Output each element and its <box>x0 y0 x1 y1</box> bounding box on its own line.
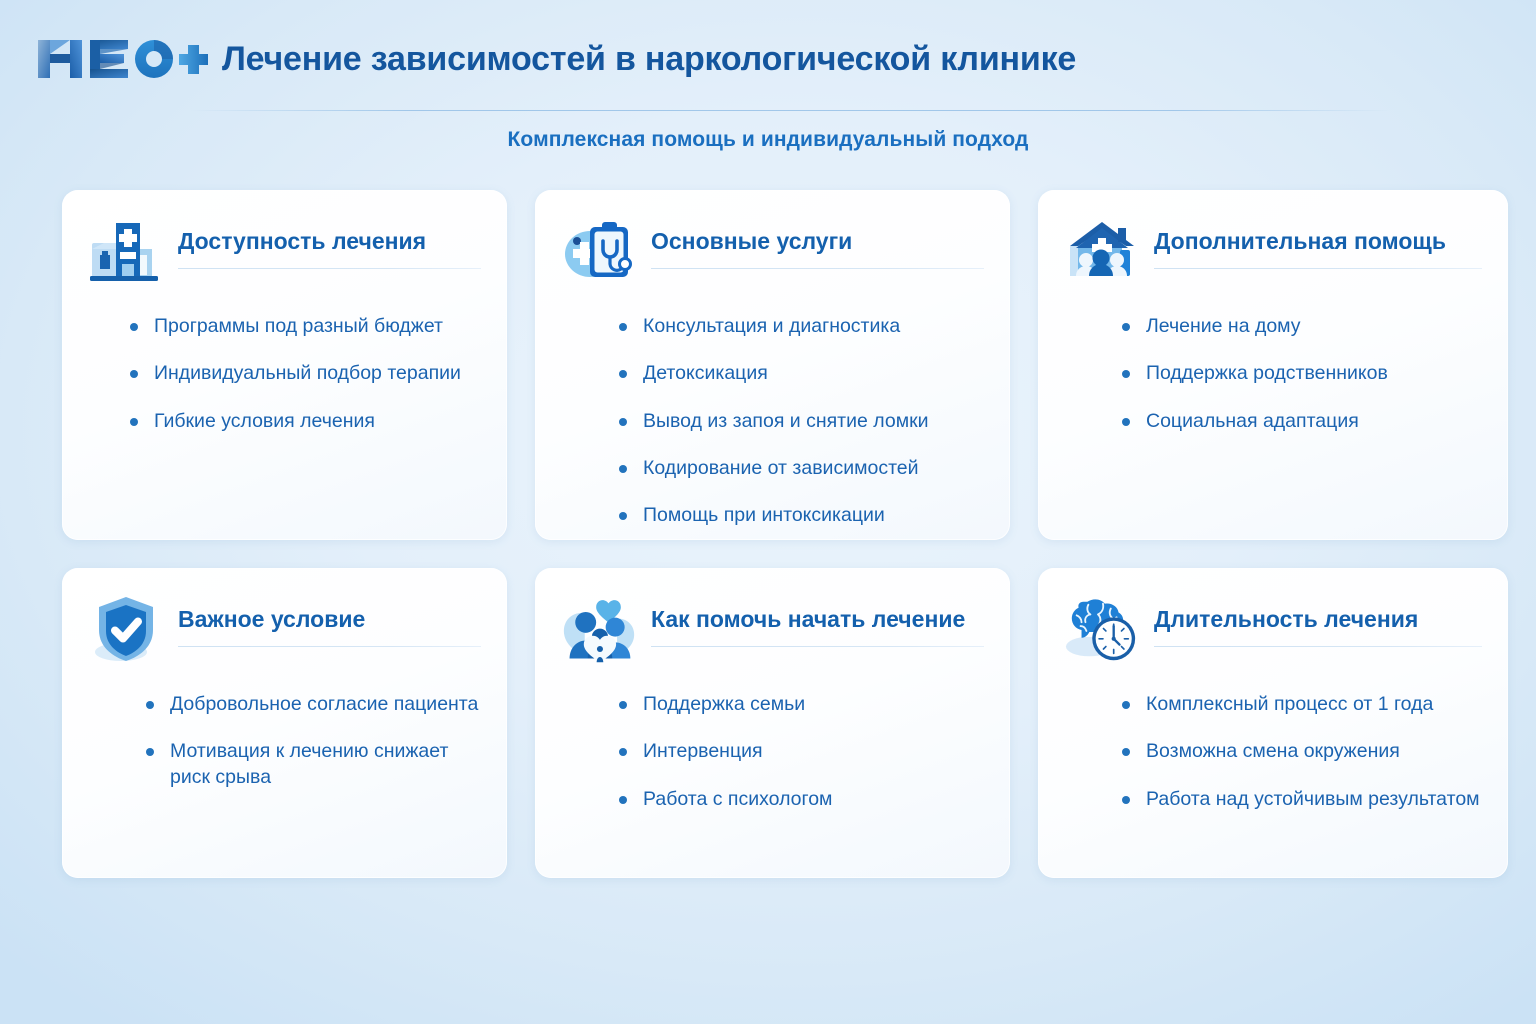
list-item: Социальная адаптация <box>1122 409 1482 434</box>
list-item: Поддержка семьи <box>619 692 984 717</box>
card-header: Основные услуги <box>561 216 984 288</box>
list-item: Лечение на дому <box>1122 314 1482 339</box>
card-title: Основные услуги <box>651 228 984 254</box>
home-care-people-icon <box>1064 218 1140 286</box>
card-header: Важное условие <box>88 594 481 666</box>
list-item: Мотивация к лечению снижает риск срыва <box>146 739 481 790</box>
list-item: Комплексный процесс от 1 года <box>1122 692 1482 717</box>
neo-plus-logo-icon <box>36 34 208 84</box>
list-item: Помощь при интоксикации <box>619 503 984 528</box>
card-title: Доступность лечения <box>178 228 481 254</box>
clipboard-stethoscope-icon <box>561 217 637 287</box>
card-title-divider <box>178 646 481 647</box>
card-bullet-list: Лечение на дому Поддержка родственников … <box>1064 314 1482 434</box>
cards-grid: Доступность лечения Программы под разный… <box>62 190 1474 878</box>
card-title: Как помочь начать лечение <box>651 606 984 632</box>
list-item: Работа над устойчивым результатом <box>1122 787 1482 812</box>
card-additional-help: Дополнительная помощь Лечение на дому По… <box>1038 190 1508 540</box>
brand-row: Лечение зависимостей в наркологической к… <box>36 34 1076 84</box>
card-header: Длительность лечения <box>1064 594 1482 666</box>
header-divider <box>190 110 1390 111</box>
card-heading-block: Как помочь начать лечение <box>651 594 984 647</box>
card-how-to-help: Как помочь начать лечение Поддержка семь… <box>535 568 1010 878</box>
card-header: Доступность лечения <box>88 216 481 288</box>
icon-container <box>1064 594 1140 666</box>
hospital-building-icon <box>90 219 162 285</box>
card-title-divider <box>651 646 984 647</box>
family-heart-icon <box>561 594 637 666</box>
card-bullet-list: Консультация и диагностика Детоксикация … <box>561 314 984 529</box>
card-treatment-duration: Длительность лечения Комплексный процесс… <box>1038 568 1508 878</box>
card-title: Длительность лечения <box>1154 606 1482 632</box>
card-bullet-list: Добровольное согласие пациента Мотивация… <box>88 692 481 790</box>
list-item: Кодирование от зависимостей <box>619 456 984 481</box>
list-item: Добровольное согласие пациента <box>146 692 481 717</box>
icon-container <box>1064 216 1140 288</box>
infographic-page: Лечение зависимостей в наркологической к… <box>0 0 1536 1024</box>
list-item: Интервенция <box>619 739 984 764</box>
card-title: Дополнительная помощь <box>1154 228 1482 254</box>
card-title-divider <box>651 268 984 269</box>
icon-container <box>88 594 164 666</box>
list-item: Поддержка родственников <box>1122 361 1482 386</box>
brain-clock-icon <box>1064 595 1140 665</box>
card-heading-block: Длительность лечения <box>1154 594 1482 647</box>
card-heading-block: Доступность лечения <box>178 216 481 269</box>
card-bullet-list: Поддержка семьи Интервенция Работа с пси… <box>561 692 984 812</box>
list-item: Возможна смена окружения <box>1122 739 1482 764</box>
list-item: Работа с психологом <box>619 787 984 812</box>
shield-check-icon <box>91 594 161 666</box>
card-header: Как помочь начать лечение <box>561 594 984 666</box>
card-title: Важное условие <box>178 606 481 632</box>
icon-container <box>88 216 164 288</box>
list-item: Консультация и диагностика <box>619 314 984 339</box>
card-title-divider <box>178 268 481 269</box>
card-heading-block: Дополнительная помощь <box>1154 216 1482 269</box>
header: Лечение зависимостей в наркологической к… <box>0 0 1536 172</box>
list-item: Детоксикация <box>619 361 984 386</box>
card-heading-block: Основные услуги <box>651 216 984 269</box>
list-item: Индивидуальный подбор терапии <box>130 361 481 386</box>
page-subtitle: Комплексная помощь и индивидуальный подх… <box>0 128 1536 152</box>
list-item: Гибкие условия лечения <box>130 409 481 434</box>
icon-container <box>561 216 637 288</box>
list-item: Вывод из запоя и снятие ломки <box>619 409 984 434</box>
icon-container <box>561 594 637 666</box>
card-heading-block: Важное условие <box>178 594 481 647</box>
card-title-divider <box>1154 268 1482 269</box>
card-important-condition: Важное условие Добровольное согласие пац… <box>62 568 507 878</box>
card-main-services: Основные услуги Консультация и диагности… <box>535 190 1010 540</box>
card-bullet-list: Комплексный процесс от 1 года Возможна с… <box>1064 692 1482 812</box>
card-availability: Доступность лечения Программы под разный… <box>62 190 507 540</box>
card-bullet-list: Программы под разный бюджет Индивидуальн… <box>88 314 481 434</box>
card-title-divider <box>1154 646 1482 647</box>
list-item: Программы под разный бюджет <box>130 314 481 339</box>
card-header: Дополнительная помощь <box>1064 216 1482 288</box>
page-title: Лечение зависимостей в наркологической к… <box>222 42 1076 76</box>
